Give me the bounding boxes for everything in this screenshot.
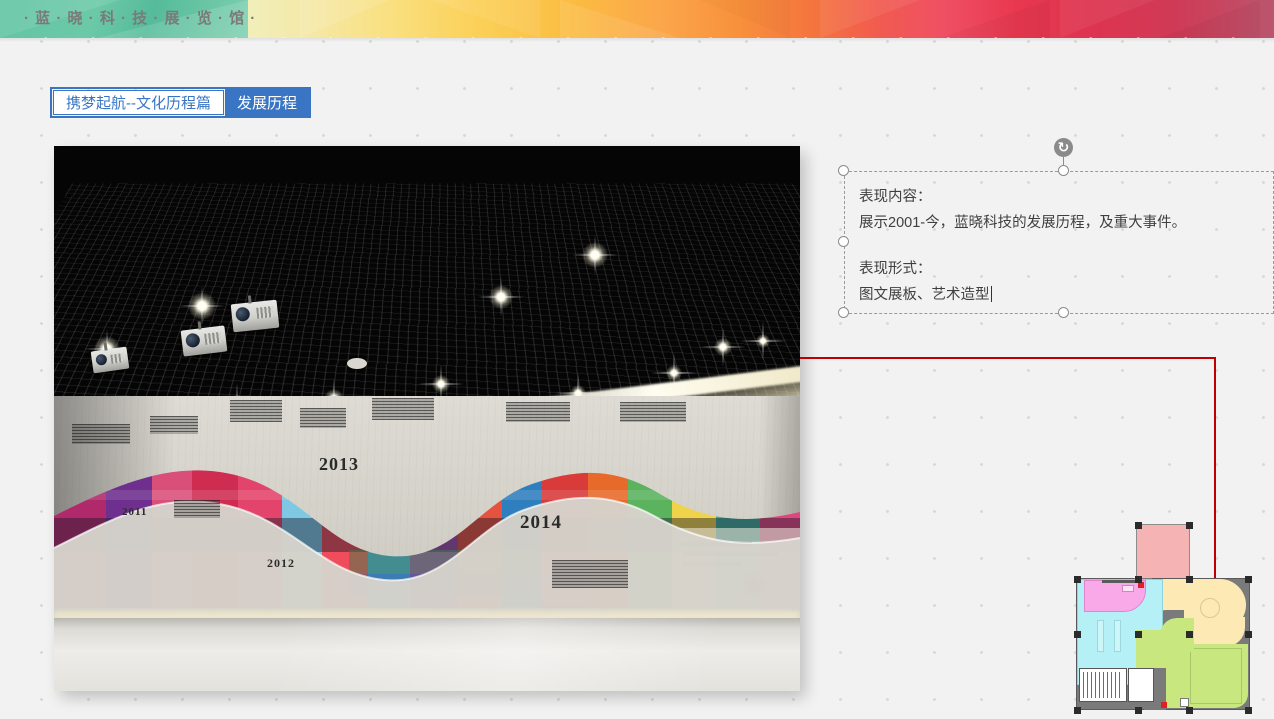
projector-vent — [256, 306, 273, 319]
tab-development-history[interactable]: 发展历程 — [225, 89, 309, 116]
plan-handle-right-edge[interactable] — [1245, 576, 1252, 583]
room-magenta-fixture — [1122, 585, 1134, 592]
plan-handle-center-lower[interactable] — [1135, 631, 1142, 638]
elevator-icon — [1128, 668, 1154, 702]
label-form-heading: 表现形式： — [859, 256, 1273, 282]
plan-handle-mid-center[interactable] — [1135, 576, 1142, 583]
ceiling-spotlight — [666, 365, 682, 381]
ceiling-projector — [231, 300, 280, 333]
wall-placard — [552, 560, 628, 588]
plan-handle-left-lower[interactable] — [1074, 631, 1081, 638]
room-magenta — [1084, 580, 1146, 612]
year-label-2013: 2013 — [319, 454, 359, 475]
label-content-heading: 表现内容： — [859, 184, 1273, 210]
projector-lens — [235, 307, 250, 322]
plan-handle-mid-right-low[interactable] — [1186, 631, 1193, 638]
plan-handle-bottom-left[interactable] — [1074, 707, 1081, 714]
floorplan-thumbnail[interactable] — [1072, 522, 1252, 712]
wall-placard — [372, 398, 434, 420]
plan-handle-right-lower[interactable] — [1245, 631, 1252, 638]
banner-shadow — [0, 38, 1274, 42]
plan-handle-mid-right[interactable] — [1186, 576, 1193, 583]
ceiling-region — [54, 146, 800, 411]
plan-handle-top-right[interactable] — [1186, 522, 1193, 529]
room-green-inner — [1190, 648, 1242, 704]
connector-line-horizontal — [800, 357, 1216, 359]
rotate-icon[interactable]: ↻ — [1054, 138, 1073, 157]
photo-image: 2011 2012 2013 2014 — [54, 146, 800, 691]
text-spacer — [859, 236, 1273, 256]
exhibition-photo[interactable]: 2011 2012 2013 2014 — [54, 146, 800, 691]
marker-red-bottom — [1161, 702, 1167, 708]
description-text: 表现内容： 展示2001-今，蓝晓科技的发展历程，及重大事件。 表现形式： 图文… — [845, 172, 1273, 308]
wall-placard — [300, 408, 346, 428]
ceiling-spotlight — [582, 242, 608, 268]
room-cyan-pillar — [1097, 620, 1104, 652]
description-textbox[interactable]: 表现内容： 展示2001-今，蓝晓科技的发展历程，及重大事件。 表现形式： 图文… — [844, 171, 1274, 314]
year-label-2014: 2014 — [520, 512, 562, 534]
text-caret — [991, 286, 992, 302]
projector-vent — [204, 332, 221, 345]
value-form: 图文展板、艺术造型 — [859, 287, 990, 303]
room-circle-marker — [1200, 598, 1220, 618]
plan-handle-bottom-center[interactable] — [1135, 707, 1142, 714]
projector-lens — [95, 353, 107, 365]
plan-handle-mid-left[interactable] — [1074, 576, 1081, 583]
wall-placard — [230, 400, 282, 422]
ceiling-spotlight — [714, 338, 732, 356]
header-banner: · 蓝 · 晓 · 科 · 技 · 展 · 览 · 馆 · — [0, 0, 1274, 38]
ceiling-spotlight — [756, 334, 770, 348]
projector-lens — [185, 333, 201, 349]
wall-placard — [506, 402, 570, 422]
exhibition-floor — [54, 618, 800, 691]
value-content: 展示2001-今，蓝晓科技的发展历程，及重大事件。 — [859, 210, 1273, 236]
ceiling-spotlight — [489, 285, 513, 309]
wall-placard — [620, 402, 686, 422]
plan-handle-bottom-mid[interactable] — [1186, 707, 1193, 714]
projector-vent — [110, 353, 123, 364]
room-pink — [1136, 524, 1190, 584]
value-form-wrapper: 图文展板、艺术造型 — [859, 282, 1273, 308]
plan-handle-bottom-right[interactable] — [1245, 707, 1252, 714]
slide-canvas: · 蓝 · 晓 · 科 · 技 · 展 · 览 · 馆 · 携梦起航--文化历程… — [0, 0, 1274, 719]
resize-handle-middle-left[interactable] — [838, 236, 849, 247]
banner-title-text: · 蓝 · 晓 · 科 · 技 · 展 · 览 · 馆 · — [24, 0, 256, 38]
tab-bar: 携梦起航--文化历程篇 发展历程 — [50, 87, 311, 118]
smoke-detector-icon — [347, 358, 367, 369]
room-cyan-pillar — [1114, 620, 1121, 652]
floor-sheen — [54, 618, 800, 691]
year-label-2012: 2012 — [267, 556, 295, 571]
year-label-2011: 2011 — [122, 506, 147, 518]
ceiling-projector — [181, 325, 228, 356]
wall-placard — [72, 424, 130, 444]
timeline-collage: 2011 2012 2013 2014 — [54, 398, 800, 618]
door-square — [1180, 698, 1189, 707]
ceiling-grid — [54, 184, 800, 411]
stair-treads — [1083, 672, 1123, 698]
wall-placard — [150, 416, 198, 434]
stairs-icon — [1079, 668, 1127, 702]
resize-handle-bottom-center[interactable] — [1058, 307, 1069, 318]
resize-handle-bottom-left[interactable] — [838, 307, 849, 318]
wall-placard — [174, 500, 220, 518]
ceiling-spotlight — [432, 375, 450, 393]
plan-handle-top-left[interactable] — [1135, 522, 1142, 529]
ceiling-spotlight — [188, 292, 216, 320]
resize-handle-top-center[interactable] — [1058, 165, 1069, 176]
resize-handle-top-left[interactable] — [838, 165, 849, 176]
tab-culture-journey[interactable]: 携梦起航--文化历程篇 — [53, 90, 224, 115]
